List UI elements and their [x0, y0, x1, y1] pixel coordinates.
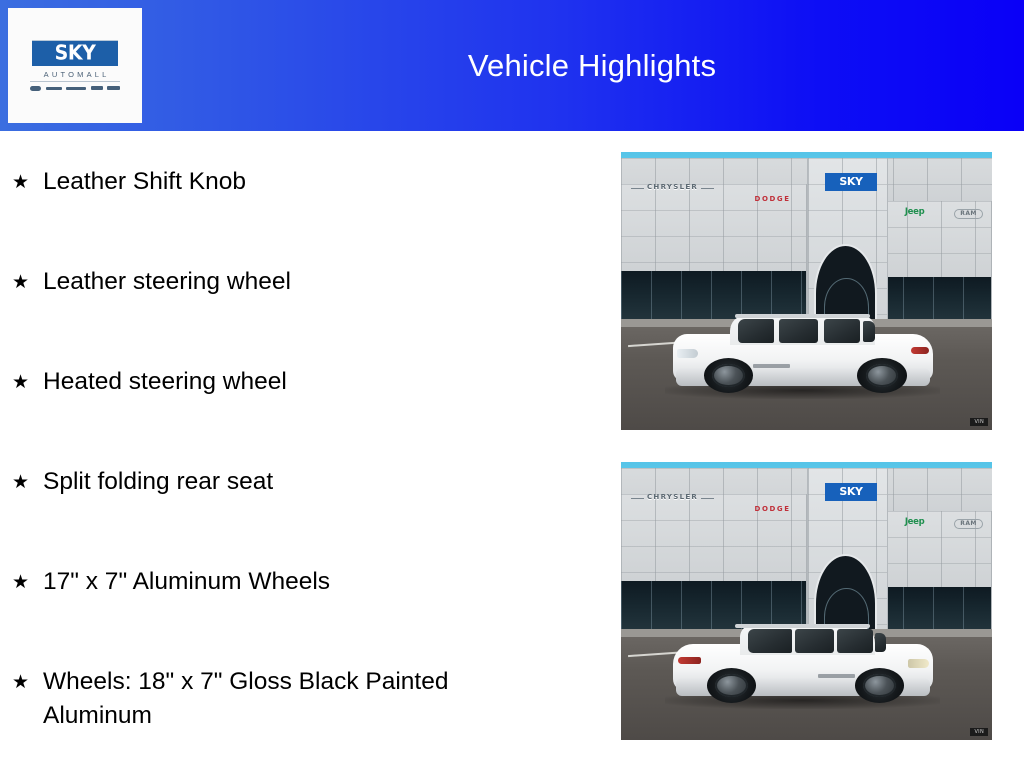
vehicle-features-list: ★ Leather Shift Knob ★ Leather steering …	[0, 152, 600, 752]
sign-ram: RAM	[954, 209, 982, 219]
window-front	[738, 319, 774, 342]
building-left-wing	[621, 184, 807, 324]
sign-chrysler: CHRYSLER	[647, 494, 698, 501]
sign-sky: SKY	[825, 483, 877, 501]
window-rear	[748, 629, 792, 652]
taillight	[911, 347, 929, 355]
window-mid	[779, 319, 818, 342]
logo-inner: SKY AUTOMALL	[27, 40, 123, 92]
brand-strip	[30, 85, 120, 92]
feature-label: 17" x 7" Aluminum Wheels	[43, 565, 543, 599]
star-bullet-icon: ★	[12, 565, 43, 599]
list-item: ★ Heated steering wheel	[12, 365, 592, 399]
dealership-scene: CHRYSLER DODGE SKY Jeep RAM	[621, 152, 992, 430]
list-item: ★ Wheels: 18" x 7" Gloss Black Painted A…	[12, 665, 592, 733]
building-right-wing	[873, 201, 992, 324]
sign-jeep: Jeep	[905, 208, 925, 217]
sky-logo-box: SKY	[32, 40, 118, 66]
rear-wheel	[707, 668, 756, 703]
window-quarter	[875, 633, 885, 652]
feature-label: Wheels: 18" x 7" Gloss Black Painted Alu…	[43, 665, 543, 733]
building-left-wing	[621, 494, 807, 634]
feature-label: Leather Shift Knob	[43, 165, 543, 199]
sign-ram: RAM	[954, 519, 982, 529]
feature-label: Split folding rear seat	[43, 465, 543, 499]
taillight	[678, 657, 701, 665]
vehicle-badge	[818, 674, 854, 678]
photo-watermark: VIN	[970, 418, 988, 426]
vehicle-rear-quarter	[673, 618, 933, 701]
star-bullet-icon: ★	[12, 665, 43, 699]
slide-header: Vehicle Highlights	[0, 0, 1024, 131]
slide-root: Vehicle Highlights SKY AUTOMALL ★ Leathe…	[0, 0, 1024, 768]
window-rear	[824, 319, 860, 342]
star-bullet-icon: ★	[12, 465, 43, 499]
sign-dodge: DODGE	[755, 196, 791, 203]
window-mid	[795, 629, 834, 652]
headlight	[677, 349, 698, 357]
vehicle-badge	[753, 364, 789, 368]
page-title: Vehicle Highlights	[160, 0, 1024, 131]
headlight	[908, 659, 929, 667]
rear-wheel	[857, 358, 906, 393]
window-quarter	[863, 321, 876, 342]
front-wheel	[855, 668, 904, 703]
front-wheel	[704, 358, 753, 393]
feature-label: Heated steering wheel	[43, 365, 543, 399]
list-item: ★ Leather steering wheel	[12, 265, 592, 299]
brand-mark-dodge-icon	[46, 87, 62, 90]
sky-logo-text: SKY	[55, 41, 96, 65]
brand-mark-ram-icon	[66, 87, 86, 90]
dealer-logo-card: SKY AUTOMALL	[8, 8, 142, 123]
dealership-building: CHRYSLER DODGE SKY Jeep RAM	[621, 158, 992, 325]
building-right-wing	[873, 511, 992, 634]
list-item: ★ Leather Shift Knob	[12, 165, 592, 199]
sign-jeep: Jeep	[905, 518, 925, 527]
vehicle-photo-rear-quarter: CHRYSLER DODGE SKY Jeep RAM	[621, 462, 992, 740]
list-item: ★ 17" x 7" Aluminum Wheels	[12, 565, 592, 599]
dealership-building: CHRYSLER DODGE SKY Jeep RAM	[621, 468, 992, 635]
list-item: ★ Split folding rear seat	[12, 465, 592, 499]
photo-watermark: VIN	[970, 728, 988, 736]
sign-dodge: DODGE	[755, 506, 791, 513]
brand-mark-chrysler-icon	[30, 86, 41, 91]
vehicle-side-profile	[673, 308, 933, 391]
star-bullet-icon: ★	[12, 165, 43, 199]
feature-label: Leather steering wheel	[43, 265, 543, 299]
automall-tagline: AUTOMALL	[40, 70, 109, 79]
roof-rail	[735, 624, 870, 627]
brand-mark-fiat-icon	[107, 86, 120, 90]
dealership-scene: CHRYSLER DODGE SKY Jeep RAM	[621, 462, 992, 740]
sign-chrysler: CHRYSLER	[647, 184, 698, 191]
brand-mark-jeep-icon	[91, 86, 103, 90]
star-bullet-icon: ★	[12, 365, 43, 399]
logo-divider	[30, 81, 120, 82]
sign-sky: SKY	[825, 173, 877, 191]
roof-rail	[735, 314, 870, 317]
star-bullet-icon: ★	[12, 265, 43, 299]
vehicle-photo-side: CHRYSLER DODGE SKY Jeep RAM	[621, 152, 992, 430]
window-front	[837, 629, 873, 652]
